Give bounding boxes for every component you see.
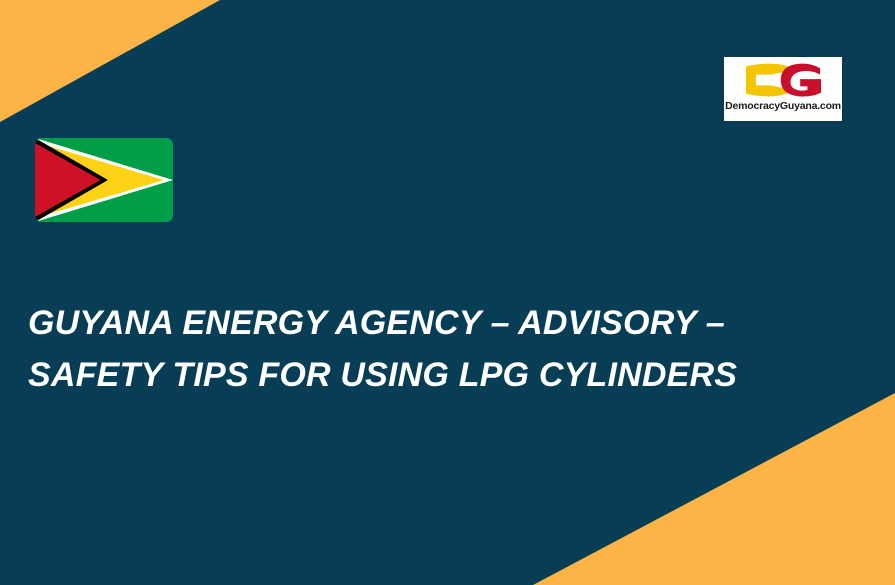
- dg-monogram-icon: [737, 61, 829, 99]
- bottom-right-accent-wedge: [533, 393, 895, 585]
- page-title: GUYANA ENERGY AGENCY – ADVISORY – SAFETY…: [28, 297, 818, 401]
- guyana-flag-icon: [35, 138, 173, 222]
- democracy-guyana-logo[interactable]: DemocracyGuyana.com: [721, 54, 845, 124]
- advisory-banner: DemocracyGuyana.com GUYANA ENERGY AGENCY…: [0, 0, 895, 585]
- top-left-accent-wedge: [0, 0, 220, 122]
- logo-caption: DemocracyGuyana.com: [725, 101, 841, 112]
